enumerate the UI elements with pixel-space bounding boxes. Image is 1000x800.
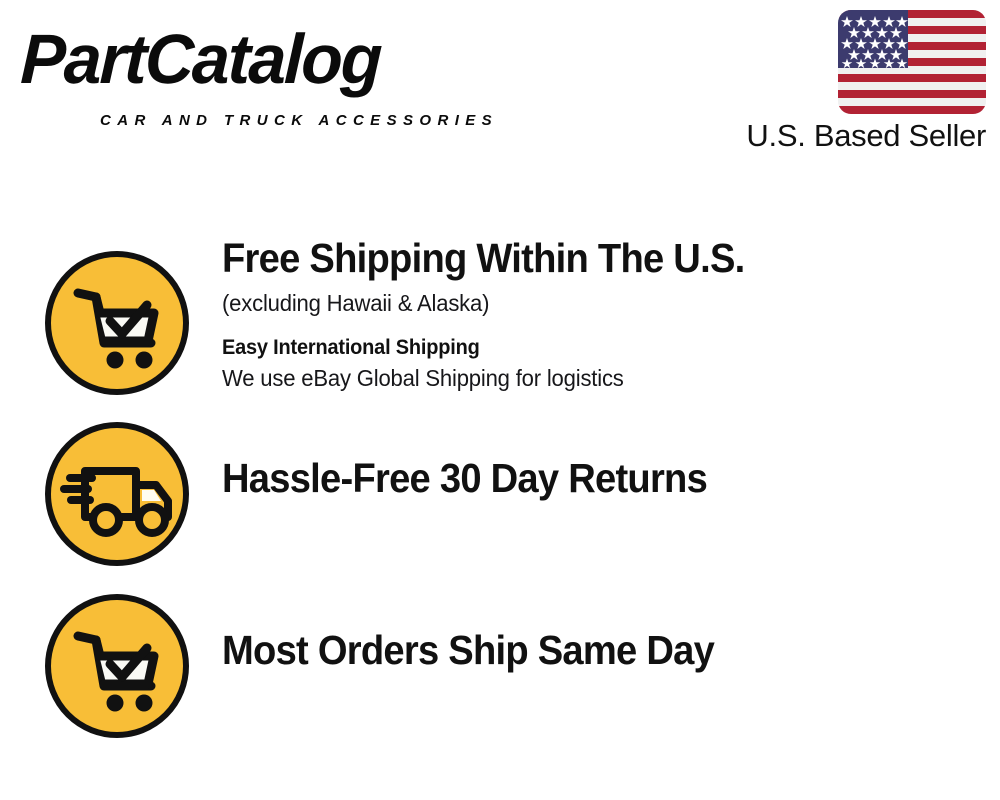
feature-title: Hassle-Free 30 Day Returns	[222, 454, 929, 502]
brand-tagline: CAR AND TRUCK ACCESSORIES	[100, 112, 498, 130]
feature-title: Most Orders Ship Same Day	[222, 626, 929, 674]
feature-row: Most Orders Ship Same Day	[0, 578, 1000, 738]
feature-row: Hassle-Free 30 Day Returns	[0, 406, 1000, 566]
feature-text-block: Hassle-Free 30 Day Returns	[222, 454, 982, 502]
feature-title: Free Shipping Within The U.S.	[222, 234, 929, 282]
feature-secondary-subtitle: We use eBay Global Shipping for logistic…	[222, 363, 952, 393]
feature-text-block: Free Shipping Within The U.S. (excluding…	[222, 234, 982, 393]
page-header: PartCatalog CAR AND TRUCK ACCESSORIES	[0, 0, 1000, 170]
brand-wordmark: PartCatalog	[19, 22, 381, 96]
brand-logo[interactable]: PartCatalog CAR AND TRUCK ACCESSORIES	[22, 22, 492, 114]
feature-secondary-title: Easy International Shipping	[222, 334, 944, 362]
feature-list: Free Shipping Within The U.S. (excluding…	[0, 228, 1000, 768]
shopping-cart-check-icon	[44, 250, 190, 396]
feature-subtitle: (excluding Hawaii & Alaska)	[222, 288, 952, 318]
feature-row: Free Shipping Within The U.S. (excluding…	[0, 228, 1000, 418]
us-based-seller-label: U.S. Based Seller	[560, 118, 986, 154]
shopping-cart-check-icon	[44, 593, 190, 739]
us-flag-badge	[838, 10, 986, 114]
delivery-truck-icon	[44, 421, 190, 567]
feature-text-block: Most Orders Ship Same Day	[222, 626, 982, 674]
us-flag-icon	[838, 10, 986, 114]
